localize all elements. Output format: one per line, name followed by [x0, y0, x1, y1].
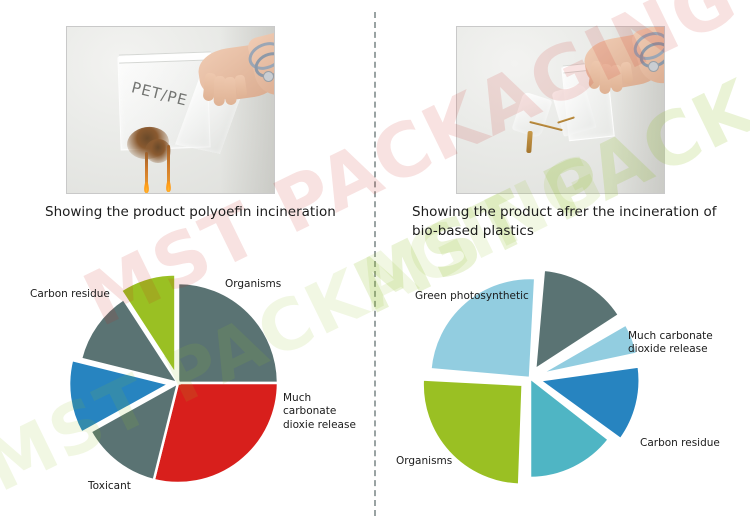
pie-label-carbon-residue-left: Carbon residue [30, 288, 110, 301]
pie-label-organisms-left: Organisms [225, 278, 281, 291]
pie-label-much-carbonate-dioxide-right: Much carbonate dioxide release [628, 330, 720, 357]
pie-slice [178, 283, 278, 383]
pie-label-toxicant-left: Toxicant [88, 480, 131, 493]
slide-root: PET/PE Show [0, 0, 750, 528]
pie-label-green-photosynthetic-right: Green photosynthetic [415, 290, 529, 303]
pie-label-much-carbonate-dioxide-left: Much carbonate dioxie release [283, 392, 365, 432]
melt-drip-secondary [167, 145, 170, 185]
bio-based-bag-residue-photo [456, 26, 665, 194]
bracelet-charm [263, 71, 274, 82]
polyolefin-bag-burning-photo: PET/PE [66, 26, 275, 194]
pie-label-organisms-right: Organisms [396, 455, 452, 468]
pie-label-carbon-residue-right: Carbon residue [640, 437, 720, 450]
melt-drip [145, 152, 148, 186]
flame-icon [144, 182, 149, 193]
caption-left: Showing the product polyoefin incinerati… [45, 203, 365, 222]
caption-right: Showing the product afrer the incinerati… [412, 203, 724, 241]
pie-left-slice-group [69, 274, 278, 483]
pie-slice [423, 380, 523, 485]
bracelet-charm [648, 61, 659, 72]
flame-icon-secondary [166, 181, 171, 192]
